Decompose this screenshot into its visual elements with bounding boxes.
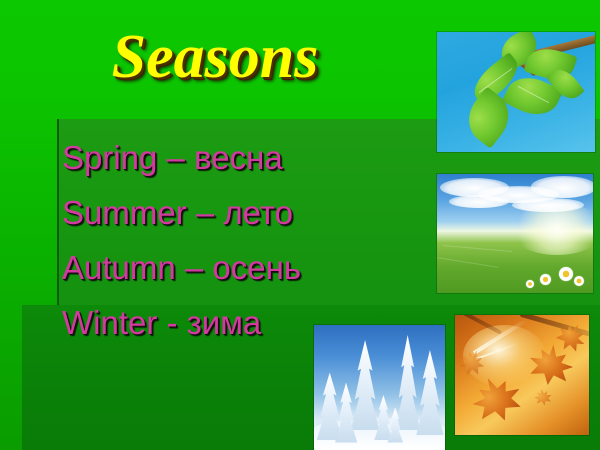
seasons-slide: Seasons Spring – весна Summer – лето Aut… [0, 0, 600, 450]
daisy-flower [526, 280, 534, 288]
snow-conifer [335, 383, 357, 443]
daisy-flower [574, 276, 584, 286]
daisy-flower [540, 274, 551, 285]
cloud-shape [512, 198, 584, 212]
page-title: Seasons [0, 21, 430, 93]
snow-conifer [416, 350, 444, 435]
summer-photo [437, 174, 593, 293]
spring-photo [437, 32, 595, 152]
daisy-flower [559, 267, 573, 281]
winter-photo [314, 325, 445, 450]
field-furrow [437, 257, 499, 268]
snow-conifer [351, 340, 380, 430]
autumn-photo [455, 315, 589, 435]
snow-conifer [395, 335, 420, 430]
cloud-shape [531, 176, 593, 197]
list-item: Spring – весна [62, 130, 482, 185]
season-vocabulary-list: Spring – весна Summer – лето Autumn – ос… [62, 130, 482, 350]
field-furrow [443, 245, 511, 252]
list-item: Autumn – осень [62, 240, 482, 295]
maple-leaf [532, 388, 553, 407]
list-item: Summer – лето [62, 185, 482, 240]
cloud-shape [449, 195, 508, 208]
